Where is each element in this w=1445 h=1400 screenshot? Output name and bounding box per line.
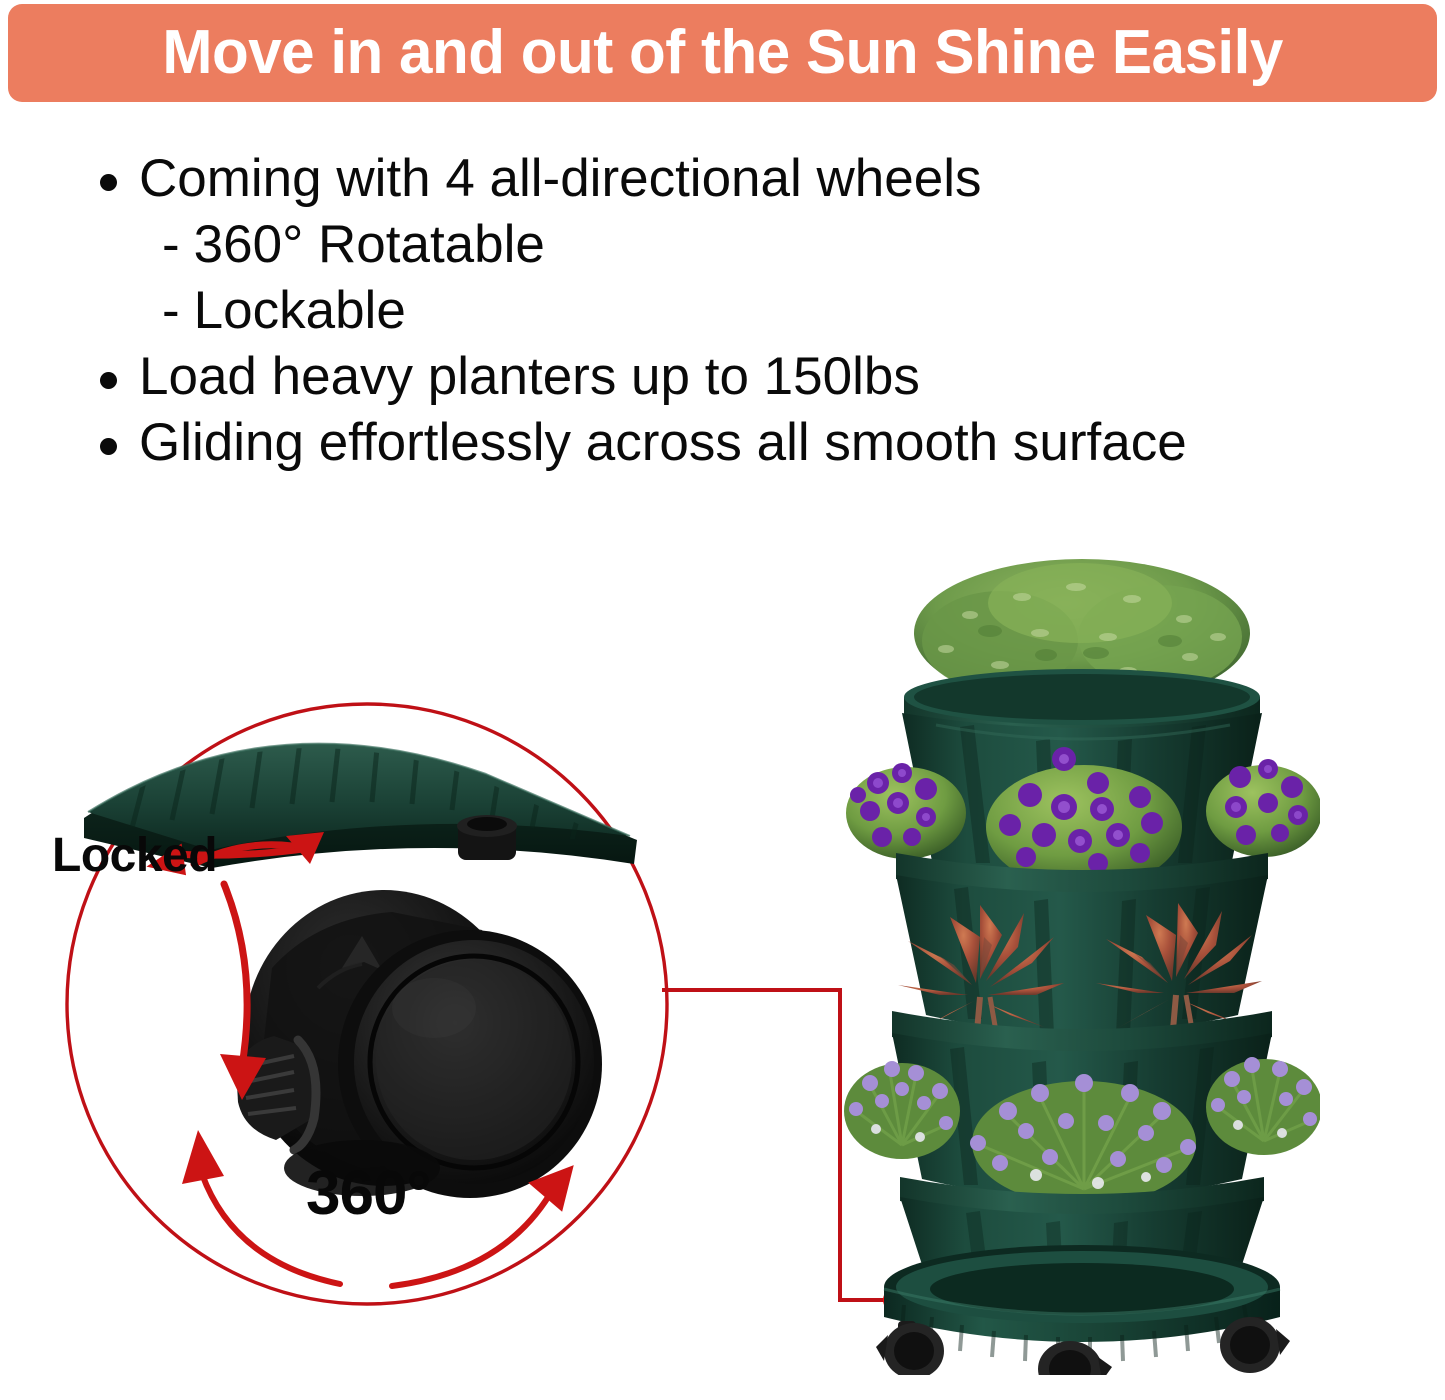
rotation-degree-label: 360° — [306, 1158, 430, 1229]
caster-wheel-callout — [62, 668, 672, 1340]
dash-marker-icon: - — [162, 280, 180, 342]
feature-subitem-rotatable: - 360° Rotatable — [100, 214, 1430, 276]
feature-item-load-capacity: Load heavy planters up to 150lbs — [100, 346, 1430, 408]
planter-tier-purple — [846, 747, 1320, 1035]
stackable-planter-tower — [840, 545, 1320, 1375]
feature-label: Lockable — [194, 280, 406, 342]
caster-stem — [457, 815, 517, 860]
feature-label: 360° Rotatable — [194, 214, 545, 276]
dash-marker-icon: - — [162, 214, 180, 276]
planter-wheeled-base — [876, 1245, 1290, 1375]
feature-subitem-lockable: - Lockable — [100, 280, 1430, 342]
feature-list: Coming with 4 all-directional wheels - 3… — [100, 148, 1430, 478]
base-caster-left — [876, 1321, 944, 1375]
header-banner: Move in and out of the Sun Shine Easily — [8, 4, 1437, 102]
bullet-point-icon — [100, 438, 117, 455]
bullet-point-icon — [100, 372, 117, 389]
base-caster-front — [1038, 1341, 1112, 1375]
banner-title: Move in and out of the Sun Shine Easily — [162, 22, 1283, 84]
bullet-point-icon — [100, 174, 117, 191]
caster-wheel-illustration — [62, 668, 672, 1340]
caster-lock-lever — [236, 1036, 316, 1150]
base-caster-right — [1220, 1317, 1290, 1373]
planter-tower-illustration — [840, 545, 1320, 1375]
feature-label: Gliding effortlessly across all smooth s… — [139, 412, 1187, 474]
feature-label: Load heavy planters up to 150lbs — [139, 346, 920, 408]
feature-label: Coming with 4 all-directional wheels — [139, 148, 982, 210]
locked-label: Locked — [52, 828, 217, 883]
feature-item-wheels: Coming with 4 all-directional wheels — [100, 148, 1430, 210]
feature-item-gliding: Gliding effortlessly across all smooth s… — [100, 412, 1430, 474]
